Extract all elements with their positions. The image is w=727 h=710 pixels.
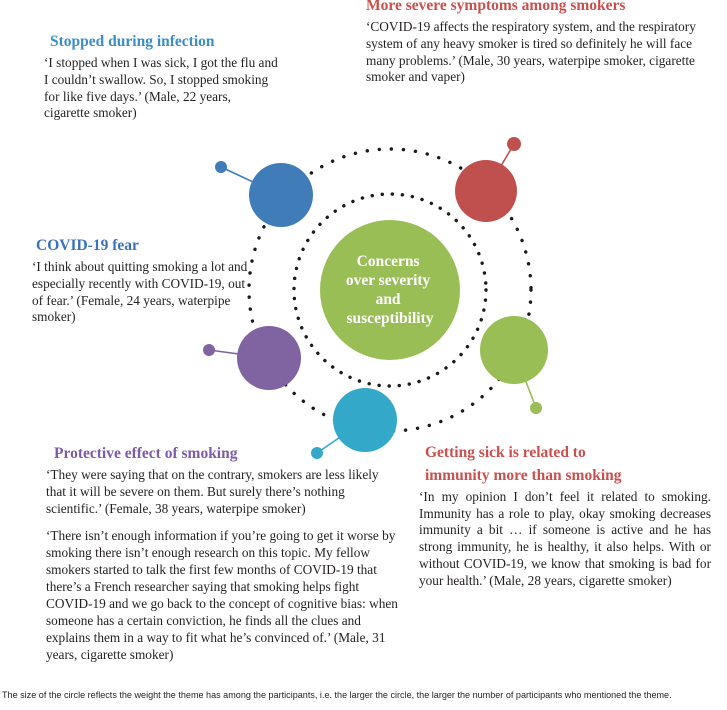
bubble-protective-effect[interactable] xyxy=(333,388,397,452)
bubble-more-severe-symptoms[interactable] xyxy=(455,160,517,222)
theme-heading-protective-effect: Protective effect of smoking xyxy=(46,444,398,464)
center-bubble[interactable] xyxy=(320,220,460,360)
leader-dot-immunity[interactable] xyxy=(530,402,542,414)
leader-dot-stopped[interactable] xyxy=(215,161,227,173)
leader-dot-fear[interactable] xyxy=(203,344,215,356)
theme-block-covid19-fear: COVID-19 fear ‘I think about quitting sm… xyxy=(32,236,252,326)
theme-heading-more-severe-symptoms: More severe symptoms among smokers xyxy=(366,0,696,16)
theme-quote-protective-effect-2: ‘There isn’t enough information if you’r… xyxy=(46,528,398,663)
figure-footnote: The size of the circle reflects the weig… xyxy=(2,690,708,701)
leader-dot-severe[interactable] xyxy=(507,137,521,151)
theme-heading-getting-sick-immunity-line2: immunity more than smoking xyxy=(419,466,711,486)
bubble-covid19-fear[interactable] xyxy=(237,326,301,390)
theme-quote-covid19-fear-1: ‘I think about quitting smoking a lot an… xyxy=(32,259,252,327)
theme-quote-more-severe-symptoms-1: ‘COVID-19 affects the respiratory system… xyxy=(366,19,696,87)
bubble-stopped-during-infection[interactable] xyxy=(249,163,313,227)
theme-block-stopped-during-infection: Stopped during infection ‘I stopped when… xyxy=(44,32,278,122)
theme-quote-getting-sick-immunity-1: ‘In my opinion I don’t feel it related t… xyxy=(419,489,711,590)
theme-heading-stopped-during-infection: Stopped during infection xyxy=(44,32,278,52)
bubble-getting-sick-immunity[interactable] xyxy=(480,316,548,384)
figure-canvas: Concerns over severity and susceptibilit… xyxy=(0,0,727,710)
theme-heading-getting-sick-immunity-line1: Getting sick is related to xyxy=(419,443,711,463)
theme-heading-covid19-fear: COVID-19 fear xyxy=(32,236,252,256)
theme-block-more-severe-symptoms: More severe symptoms among smokers ‘COVI… xyxy=(366,0,696,86)
theme-block-getting-sick-immunity: Getting sick is related to immunity more… xyxy=(419,443,711,590)
theme-block-protective-effect: Protective effect of smoking ‘They were … xyxy=(46,444,398,663)
theme-quote-stopped-during-infection-1: ‘I stopped when I was sick, I got the fl… xyxy=(44,55,278,123)
theme-quote-protective-effect-1: ‘They were saying that on the contrary, … xyxy=(46,467,398,518)
